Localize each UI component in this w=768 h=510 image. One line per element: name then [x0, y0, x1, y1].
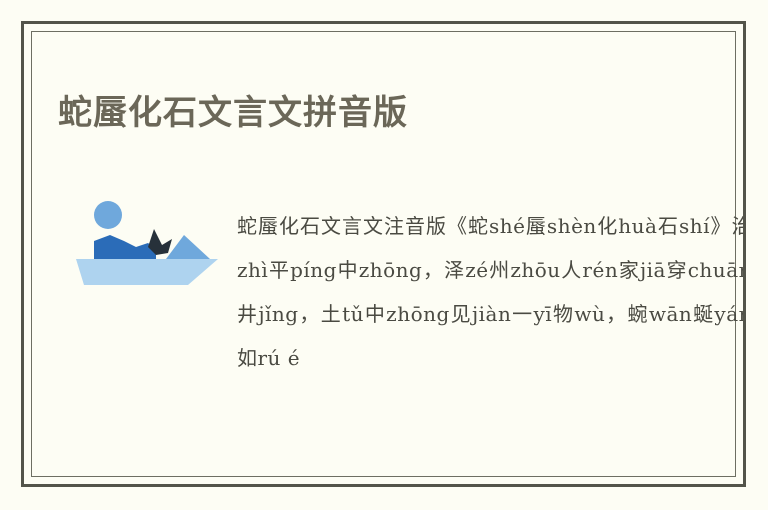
article-paragraph: 蛇蜃化石文言文注音版《蛇shé蜃shèn化huà石shí》治zhì平píng中z…	[237, 204, 746, 380]
person-in-boat-illustration	[70, 197, 222, 297]
page-title: 蛇蜃化石文言文拼音版	[58, 93, 408, 133]
illustration-sail	[166, 235, 210, 259]
article-body: 蛇蜃化石文言文注音版《蛇shé蜃shèn化huà石shí》治zhì平píng中z…	[32, 152, 746, 412]
document-page-inner-frame: 蛇蜃化石文言文拼音版 蛇蜃化石文言文注音版《蛇shé蜃shèn化h	[31, 31, 736, 477]
illustration-head	[94, 201, 122, 229]
document-page-frame: 蛇蜃化石文言文拼音版 蛇蜃化石文言文注音版《蛇shé蜃shèn化h	[21, 21, 746, 487]
illustration-boat-hull	[76, 259, 218, 285]
